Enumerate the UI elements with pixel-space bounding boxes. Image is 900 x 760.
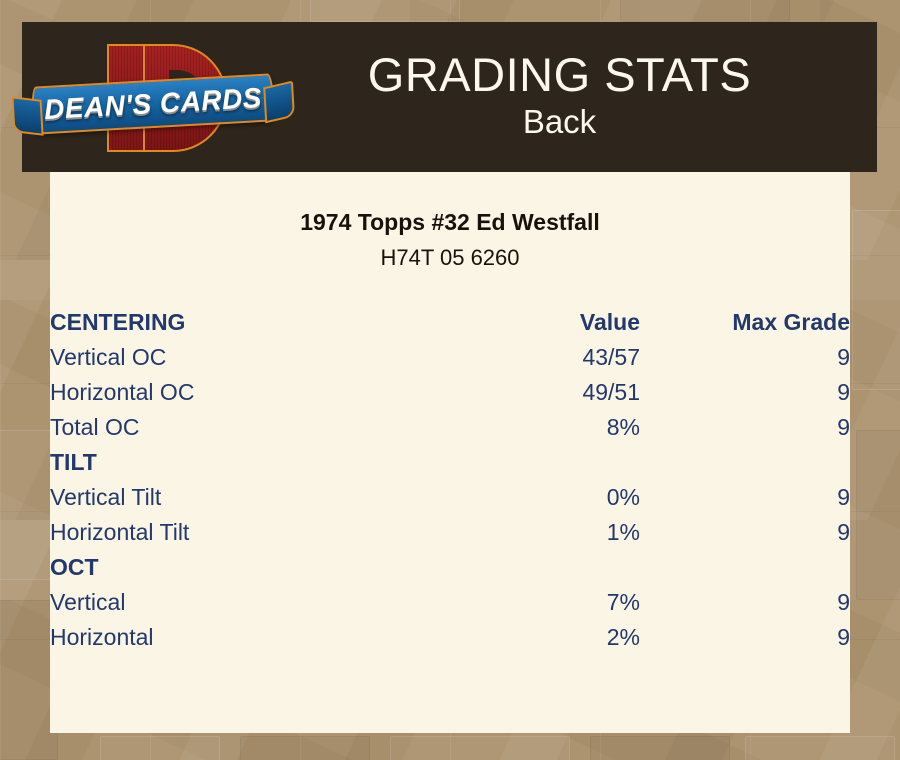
table-row: Total OC8%9	[50, 410, 850, 445]
row-label: Horizontal OC	[50, 375, 470, 410]
row-max-grade: 9	[640, 375, 850, 410]
row-label: Total OC	[50, 410, 470, 445]
table-body: Vertical OC43/579Horizontal OC49/519Tota…	[50, 340, 850, 655]
background-card-ghost	[240, 736, 370, 760]
table-row: Horizontal OC49/519	[50, 375, 850, 410]
page-subtitle: Back	[282, 101, 837, 144]
column-header-label: CENTERING	[50, 305, 470, 340]
header-bar: DEAN'S CARDS GRADING STATS Back	[22, 22, 877, 172]
row-max-grade: 9	[640, 620, 850, 655]
row-value: 43/57	[470, 340, 640, 375]
grading-stats-table: CENTERING Value Max Grade Vertical OC43/…	[50, 305, 850, 655]
page-root: DEAN'S CARDS GRADING STATS Back 1974 Top…	[0, 0, 900, 760]
deans-cards-logo[interactable]: DEAN'S CARDS	[22, 22, 282, 172]
header-titles: GRADING STATS Back	[282, 50, 877, 144]
section-label: TILT	[50, 445, 470, 480]
row-max-grade: 9	[640, 340, 850, 375]
card-code: H74T 05 6260	[50, 245, 850, 271]
background-card-ghost	[310, 0, 460, 22]
row-value: 2%	[470, 620, 640, 655]
table-header-row: CENTERING Value Max Grade	[50, 305, 850, 340]
logo-banner-text: DEAN'S CARDS	[43, 82, 262, 126]
row-value: 8%	[470, 410, 640, 445]
background-card-ghost	[852, 210, 900, 390]
table-row: Horizontal2%9	[50, 620, 850, 655]
row-max-grade	[640, 550, 850, 585]
background-card-ghost	[856, 430, 900, 600]
row-max-grade: 9	[640, 515, 850, 550]
background-card-ghost	[745, 736, 895, 760]
background-card-ghost	[590, 736, 730, 760]
page-title: GRADING STATS	[282, 50, 837, 99]
row-max-grade: 9	[640, 480, 850, 515]
row-label: Horizontal Tilt	[50, 515, 470, 550]
row-max-grade	[640, 445, 850, 480]
row-max-grade: 9	[640, 585, 850, 620]
row-max-grade: 9	[640, 410, 850, 445]
table-row: Vertical OC43/579	[50, 340, 850, 375]
card-title: 1974 Topps #32 Ed Westfall	[50, 209, 850, 236]
column-header-max-grade: Max Grade	[640, 305, 850, 340]
background-card-ghost	[390, 736, 570, 760]
row-value	[470, 550, 640, 585]
background-card-ghost	[620, 0, 790, 22]
row-value: 7%	[470, 585, 640, 620]
background-card-ghost	[100, 736, 220, 760]
row-value	[470, 445, 640, 480]
table-header: CENTERING Value Max Grade	[50, 305, 850, 340]
row-label: Vertical	[50, 585, 470, 620]
row-label: Vertical OC	[50, 340, 470, 375]
content-panel: 1974 Topps #32 Ed Westfall H74T 05 6260 …	[50, 172, 850, 733]
row-value: 0%	[470, 480, 640, 515]
logo-banner: DEAN'S CARDS	[31, 73, 275, 134]
column-header-value: Value	[470, 305, 640, 340]
row-value: 49/51	[470, 375, 640, 410]
row-label: Vertical Tilt	[50, 480, 470, 515]
row-label: Horizontal	[50, 620, 470, 655]
table-row: Vertical7%9	[50, 585, 850, 620]
table-section-row: OCT	[50, 550, 850, 585]
section-label: OCT	[50, 550, 470, 585]
table-section-row: TILT	[50, 445, 850, 480]
row-value: 1%	[470, 515, 640, 550]
table-row: Vertical Tilt0%9	[50, 480, 850, 515]
table-row: Horizontal Tilt1%9	[50, 515, 850, 550]
